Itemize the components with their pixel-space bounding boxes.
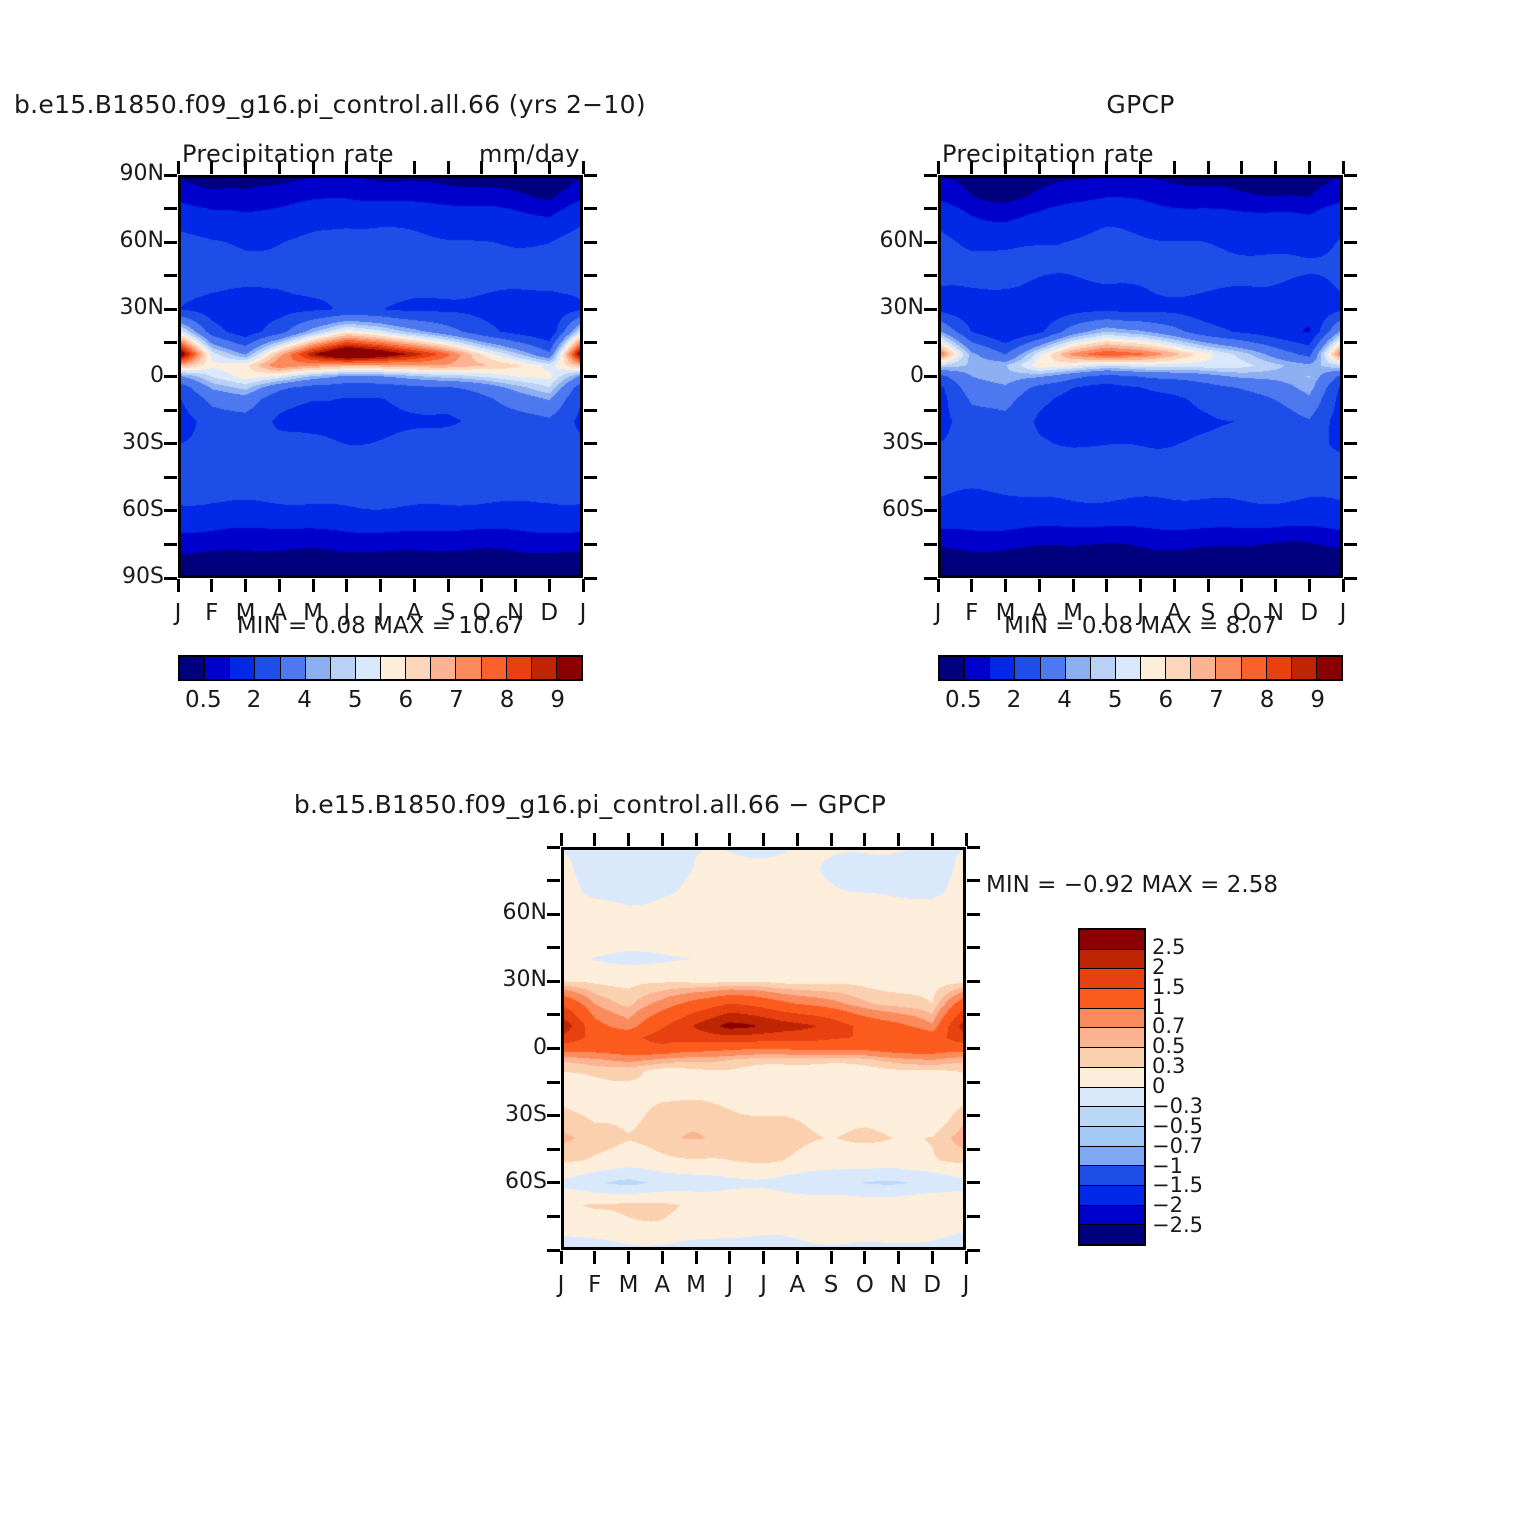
- y-tick: [1344, 375, 1357, 378]
- obs-heatmap-canvas: [938, 175, 1343, 578]
- y-tick: [547, 1114, 560, 1117]
- x-tick: [379, 161, 382, 174]
- colorbar-swatch: [1015, 657, 1040, 679]
- model-variable-label: Precipitation rate: [182, 140, 394, 168]
- model-heatmap-canvas: [178, 175, 583, 578]
- x-tick: [447, 161, 450, 174]
- colorbar-swatch: [381, 657, 406, 679]
- x-tick: [177, 579, 180, 592]
- y-axis-label: 90S: [78, 564, 164, 589]
- y-tick: [1344, 509, 1357, 512]
- y-tick: [164, 543, 177, 546]
- x-tick: [1207, 161, 1210, 174]
- y-tick: [584, 509, 597, 512]
- colorbar-swatch: [1080, 1068, 1144, 1088]
- y-tick: [584, 241, 597, 244]
- x-tick: [830, 1251, 833, 1264]
- x-tick: [796, 1251, 799, 1264]
- x-tick: [897, 1251, 900, 1264]
- y-tick: [164, 409, 177, 412]
- colorbar-swatch: [180, 657, 205, 679]
- y-tick: [547, 846, 560, 849]
- y-tick: [967, 1148, 980, 1151]
- x-tick: [413, 579, 416, 592]
- x-tick: [796, 833, 799, 846]
- x-tick: [627, 1251, 630, 1264]
- y-tick: [547, 1215, 560, 1218]
- y-tick: [924, 577, 937, 580]
- x-tick: [1105, 579, 1108, 592]
- y-axis-label: 30S: [461, 1102, 547, 1127]
- x-tick: [1274, 161, 1277, 174]
- y-axis-label: 30S: [78, 430, 164, 455]
- y-tick: [584, 341, 597, 344]
- x-tick: [560, 1251, 563, 1264]
- x-tick: [312, 161, 315, 174]
- x-tick: [447, 579, 450, 592]
- y-tick: [1344, 274, 1357, 277]
- y-tick: [547, 1081, 560, 1084]
- x-tick: [582, 161, 585, 174]
- x-tick: [931, 1251, 934, 1264]
- colorbar-swatch: [255, 657, 280, 679]
- y-tick: [967, 1114, 980, 1117]
- y-axis-label: 60S: [838, 497, 924, 522]
- y-tick: [1344, 409, 1357, 412]
- x-tick: [244, 579, 247, 592]
- model-heatmap-plot[interactable]: [178, 175, 583, 578]
- y-tick: [1344, 476, 1357, 479]
- y-tick: [547, 1013, 560, 1016]
- colorbar-swatch: [230, 657, 255, 679]
- x-tick: [695, 833, 698, 846]
- y-tick: [164, 308, 177, 311]
- colorbar-swatch: [1041, 657, 1066, 679]
- x-tick: [1173, 161, 1176, 174]
- y-tick: [584, 442, 597, 445]
- colorbar-swatch: [331, 657, 356, 679]
- colorbar-swatch: [940, 657, 965, 679]
- diff-colorbar[interactable]: [1078, 928, 1146, 1246]
- y-tick: [547, 913, 560, 916]
- y-tick: [547, 1249, 560, 1252]
- x-tick: [1038, 161, 1041, 174]
- obs-variable-label: Precipitation rate: [942, 140, 1154, 168]
- y-tick: [584, 174, 597, 177]
- x-tick: [1105, 161, 1108, 174]
- y-tick: [584, 543, 597, 546]
- y-tick: [164, 509, 177, 512]
- y-tick: [164, 174, 177, 177]
- y-axis-label: 0: [838, 363, 924, 388]
- x-tick: [1139, 579, 1142, 592]
- colorbar-swatch: [306, 657, 331, 679]
- y-tick: [547, 1047, 560, 1050]
- colorbar-swatch: [1080, 1127, 1144, 1147]
- x-tick: [970, 579, 973, 592]
- y-tick: [164, 476, 177, 479]
- x-tick: [1240, 579, 1243, 592]
- colorbar-swatch: [1292, 657, 1317, 679]
- colorbar-swatch: [1242, 657, 1267, 679]
- x-tick: [695, 1251, 698, 1264]
- x-tick: [312, 579, 315, 592]
- y-tick: [584, 308, 597, 311]
- x-tick: [548, 579, 551, 592]
- colorbar-swatch: [1141, 657, 1166, 679]
- x-tick: [1308, 579, 1311, 592]
- x-tick: [210, 579, 213, 592]
- y-tick: [164, 341, 177, 344]
- colorbar-swatch: [1080, 1166, 1144, 1186]
- obs-minmax-text: MIN = 0.08 MAX = 8.07: [938, 613, 1343, 639]
- x-tick: [1240, 161, 1243, 174]
- x-tick: [1308, 161, 1311, 174]
- x-tick: [931, 833, 934, 846]
- x-tick: [1342, 161, 1345, 174]
- x-tick: [210, 161, 213, 174]
- x-tick: [480, 579, 483, 592]
- x-tick: [413, 161, 416, 174]
- x-tick: [728, 833, 731, 846]
- colorbar-swatch: [1080, 1225, 1144, 1244]
- x-tick: [1274, 579, 1277, 592]
- x-tick: [863, 1251, 866, 1264]
- y-tick: [1344, 308, 1357, 311]
- x-tick: [762, 1251, 765, 1264]
- y-axis-label: 0: [78, 363, 164, 388]
- colorbar-swatch: [1116, 657, 1141, 679]
- y-tick: [584, 375, 597, 378]
- x-tick: [627, 833, 630, 846]
- diff-minmax-text: MIN = −0.92 MAX = 2.58: [986, 872, 1278, 898]
- y-tick: [1344, 241, 1357, 244]
- colorbar-swatch: [431, 657, 456, 679]
- diff-heatmap-plot[interactable]: [561, 847, 966, 1250]
- colorbar-tick-label: 9: [1288, 687, 1348, 713]
- model-panel-title: b.e15.B1850.f09_g16.pi_control.all.66 (y…: [14, 90, 646, 119]
- colorbar-swatch: [1166, 657, 1191, 679]
- x-tick: [244, 161, 247, 174]
- y-tick: [547, 980, 560, 983]
- x-tick: [345, 579, 348, 592]
- y-tick: [924, 274, 937, 277]
- x-tick: [548, 161, 551, 174]
- colorbar-swatch: [1080, 1088, 1144, 1108]
- y-axis-label: 60N: [78, 228, 164, 253]
- colorbar-swatch: [1080, 1009, 1144, 1029]
- y-axis-label: 0: [461, 1035, 547, 1060]
- x-tick: [897, 833, 900, 846]
- y-tick: [1344, 543, 1357, 546]
- colorbar-swatch: [1267, 657, 1292, 679]
- x-tick: [379, 579, 382, 592]
- x-tick: [345, 161, 348, 174]
- x-tick: [830, 833, 833, 846]
- y-tick: [967, 946, 980, 949]
- colorbar-swatch: [1066, 657, 1091, 679]
- model-units-label: mm/day: [479, 140, 580, 168]
- colorbar-swatch: [1080, 1186, 1144, 1206]
- x-tick: [278, 579, 281, 592]
- x-tick: [1072, 579, 1075, 592]
- obs-panel-title: GPCP: [938, 90, 1343, 119]
- colorbar-swatch: [1080, 969, 1144, 989]
- x-tick: [1173, 579, 1176, 592]
- y-tick: [924, 476, 937, 479]
- y-tick: [967, 1215, 980, 1218]
- y-axis-label: 60S: [78, 497, 164, 522]
- x-tick: [514, 579, 517, 592]
- colorbar-swatch: [356, 657, 381, 679]
- colorbar-swatch: [1080, 1048, 1144, 1068]
- x-tick: [177, 161, 180, 174]
- x-tick: [661, 833, 664, 846]
- y-axis-label: 30N: [838, 295, 924, 320]
- y-tick: [967, 980, 980, 983]
- x-tick: [1342, 579, 1345, 592]
- colorbar-swatch: [532, 657, 557, 679]
- x-tick: [593, 833, 596, 846]
- x-tick: [1072, 161, 1075, 174]
- x-tick: [661, 1251, 664, 1264]
- x-tick: [278, 161, 281, 174]
- y-tick: [924, 442, 937, 445]
- colorbar-swatch: [1091, 657, 1116, 679]
- x-tick: [762, 833, 765, 846]
- x-tick: [728, 1251, 731, 1264]
- colorbar-swatch: [965, 657, 990, 679]
- colorbar-swatch: [507, 657, 532, 679]
- x-tick: [480, 161, 483, 174]
- y-tick: [924, 509, 937, 512]
- y-tick: [924, 543, 937, 546]
- colorbar-swatch: [990, 657, 1015, 679]
- y-axis-label: 60S: [461, 1169, 547, 1194]
- colorbar-swatch: [1317, 657, 1341, 679]
- y-tick: [967, 846, 980, 849]
- y-tick: [164, 241, 177, 244]
- x-tick: [1139, 161, 1142, 174]
- y-tick: [967, 879, 980, 882]
- diff-heatmap-canvas: [561, 847, 966, 1250]
- y-tick: [584, 476, 597, 479]
- colorbar-swatch: [1216, 657, 1241, 679]
- y-tick: [584, 577, 597, 580]
- colorbar-tick-label: 9: [528, 687, 588, 713]
- y-tick: [924, 174, 937, 177]
- y-tick: [164, 207, 177, 210]
- colorbar-swatch: [1080, 989, 1144, 1009]
- colorbar-swatch: [281, 657, 306, 679]
- y-tick: [967, 913, 980, 916]
- y-tick: [547, 1148, 560, 1151]
- diff-panel-title: b.e15.B1850.f09_g16.pi_control.all.66 − …: [0, 790, 1180, 819]
- y-tick: [584, 207, 597, 210]
- y-tick: [1344, 174, 1357, 177]
- y-tick: [967, 1249, 980, 1252]
- colorbar-swatch: [1080, 1028, 1144, 1048]
- y-tick: [547, 1181, 560, 1184]
- colorbar-swatch: [456, 657, 481, 679]
- colorbar-tick-label: −2.5: [1152, 1213, 1242, 1237]
- x-tick: [593, 1251, 596, 1264]
- y-axis-label: 30N: [461, 967, 547, 992]
- y-axis-label: 30N: [78, 295, 164, 320]
- model-colorbar[interactable]: [178, 655, 583, 681]
- x-tick: [937, 579, 940, 592]
- y-tick: [584, 274, 597, 277]
- y-tick: [967, 1047, 980, 1050]
- x-tick: [560, 833, 563, 846]
- colorbar-swatch: [1080, 950, 1144, 970]
- x-tick: [1004, 161, 1007, 174]
- x-axis-label: J: [946, 1272, 986, 1298]
- y-axis-label: 60N: [838, 228, 924, 253]
- colorbar-swatch: [205, 657, 230, 679]
- y-tick: [547, 946, 560, 949]
- x-tick: [863, 833, 866, 846]
- y-tick: [924, 207, 937, 210]
- y-tick: [164, 577, 177, 580]
- x-tick: [1004, 579, 1007, 592]
- colorbar-swatch: [1080, 1206, 1144, 1226]
- model-minmax-text: MIN = 0.08 MAX = 10.67: [178, 613, 583, 639]
- y-axis-label: 30S: [838, 430, 924, 455]
- y-tick: [584, 409, 597, 412]
- y-tick: [924, 375, 937, 378]
- y-tick: [967, 1081, 980, 1084]
- colorbar-swatch: [557, 657, 581, 679]
- x-tick: [965, 833, 968, 846]
- y-tick: [924, 241, 937, 244]
- x-tick: [1038, 579, 1041, 592]
- y-tick: [924, 308, 937, 311]
- x-tick: [514, 161, 517, 174]
- x-tick: [965, 1251, 968, 1264]
- x-tick: [1207, 579, 1210, 592]
- obs-colorbar[interactable]: [938, 655, 1343, 681]
- colorbar-swatch: [1191, 657, 1216, 679]
- y-tick: [1344, 341, 1357, 344]
- colorbar-swatch: [1080, 1147, 1144, 1167]
- y-tick: [924, 341, 937, 344]
- colorbar-swatch: [1080, 930, 1144, 950]
- y-tick: [1344, 442, 1357, 445]
- colorbar-swatch: [1080, 1107, 1144, 1127]
- y-tick: [164, 442, 177, 445]
- colorbar-swatch: [406, 657, 431, 679]
- x-tick: [937, 161, 940, 174]
- y-axis-label: 90N: [78, 161, 164, 186]
- colorbar-swatch: [482, 657, 507, 679]
- y-tick: [1344, 577, 1357, 580]
- x-tick: [582, 579, 585, 592]
- y-tick: [967, 1013, 980, 1016]
- x-tick: [970, 161, 973, 174]
- y-tick: [547, 879, 560, 882]
- y-tick: [967, 1181, 980, 1184]
- y-tick: [924, 409, 937, 412]
- y-axis-label: 60N: [461, 900, 547, 925]
- y-tick: [1344, 207, 1357, 210]
- y-tick: [164, 274, 177, 277]
- y-tick: [164, 375, 177, 378]
- obs-heatmap-plot[interactable]: [938, 175, 1343, 578]
